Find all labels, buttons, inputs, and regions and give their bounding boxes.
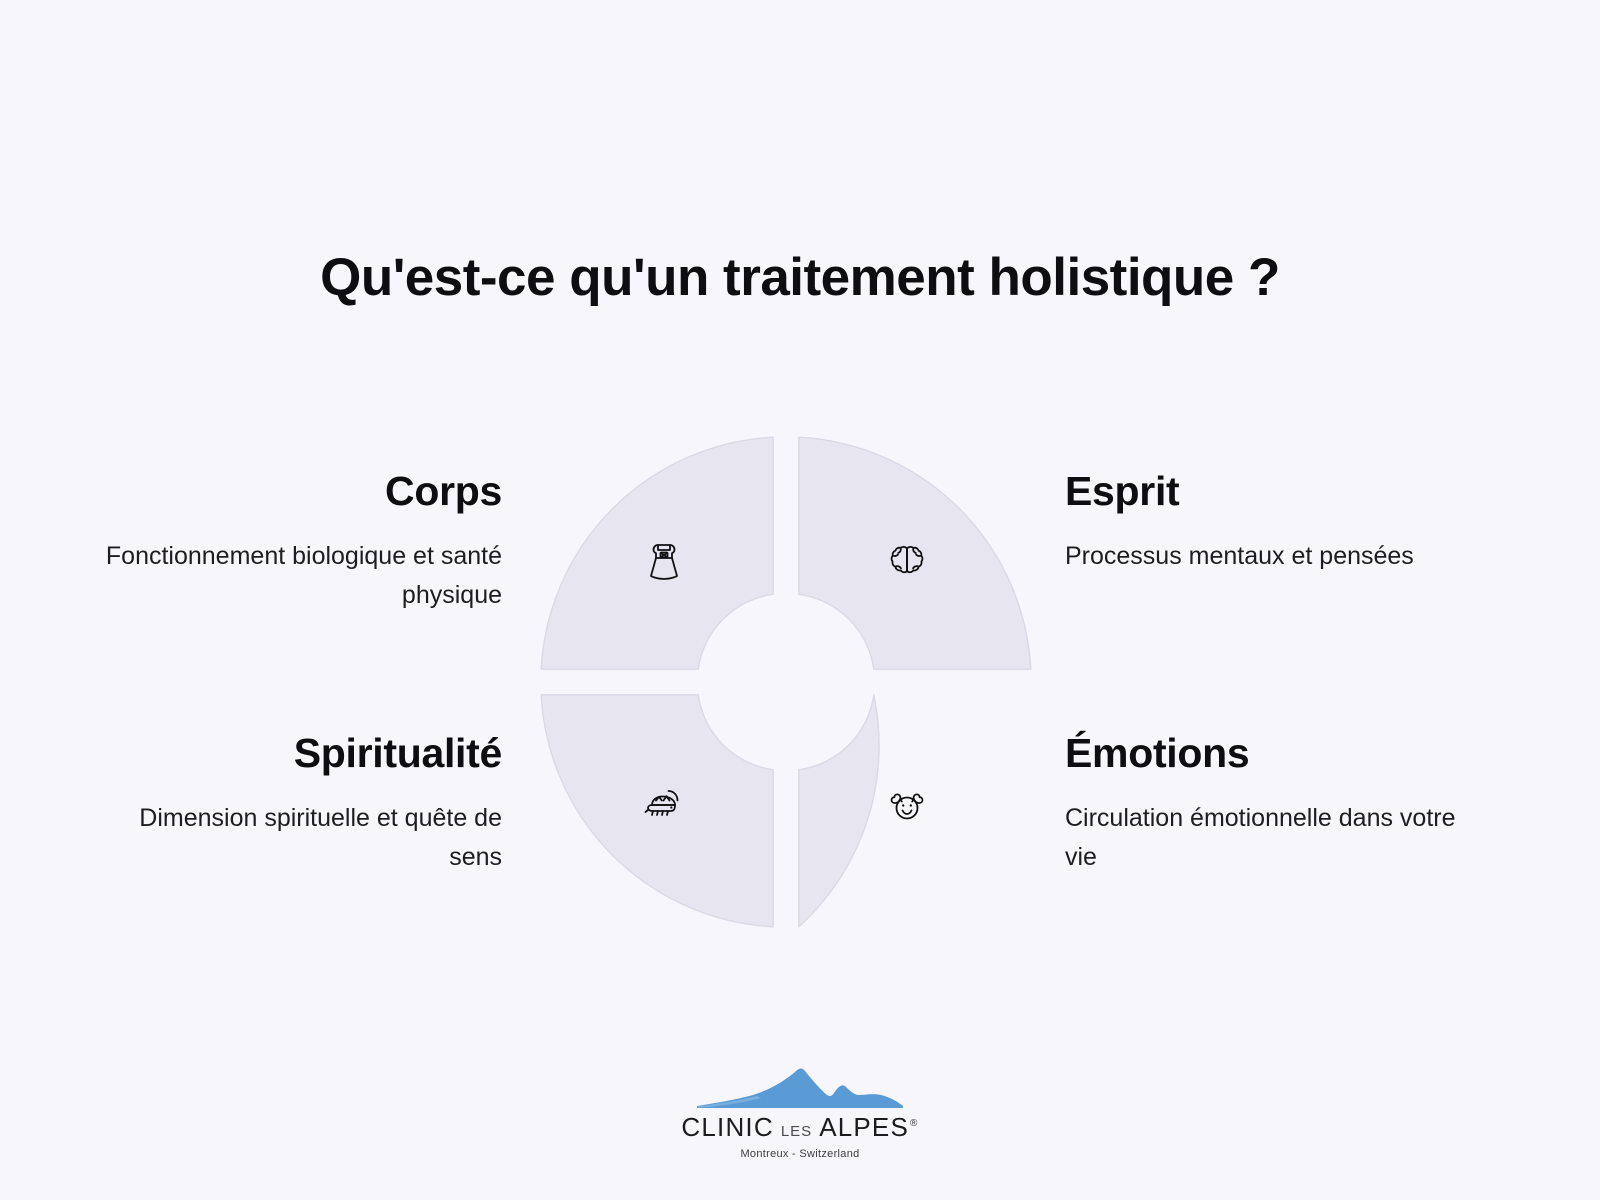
smiley-hearts-icon bbox=[884, 780, 930, 826]
footer-logo: CLINIC LES ALPES ® Montreux - Switzerlan… bbox=[0, 1062, 1600, 1160]
quadrant-emotions-description: Circulation émotionnelle dans votre vie bbox=[1065, 799, 1485, 877]
quadrant-spiritualite: Spiritualité Dimension spirituelle et qu… bbox=[82, 730, 502, 877]
logo-tagline: Montreux - Switzerland bbox=[740, 1148, 859, 1160]
quadrant-spiritualite-title: Spiritualité bbox=[82, 730, 502, 777]
quadrant-corps-title: Corps bbox=[82, 468, 502, 515]
donut-segment-emotions[interactable] bbox=[799, 695, 879, 927]
brain-icon bbox=[884, 539, 930, 585]
logo-registered-mark: ® bbox=[910, 1118, 919, 1129]
quadrant-emotions: Émotions Circulation émotionnelle dans v… bbox=[1065, 730, 1485, 877]
logo-word-alpes: ALPES bbox=[819, 1112, 909, 1143]
dress-icon bbox=[641, 539, 687, 585]
quadrant-esprit-title: Esprit bbox=[1065, 468, 1485, 515]
page-title: Qu'est-ce qu'un traitement holistique ? bbox=[0, 248, 1600, 309]
quadrant-esprit: Esprit Processus mentaux et pensées bbox=[1065, 468, 1485, 576]
holistic-donut-diagram bbox=[541, 437, 1031, 927]
quadrant-corps-description: Fonctionnement biologique et santé physi… bbox=[82, 537, 502, 615]
quadrant-esprit-description: Processus mentaux et pensées bbox=[1065, 537, 1485, 576]
donut-chart bbox=[541, 437, 1031, 927]
quadrant-emotions-title: Émotions bbox=[1065, 730, 1485, 777]
infographic-page: Qu'est-ce qu'un traitement holistique ? bbox=[0, 0, 1600, 1200]
mountain-logo-icon bbox=[695, 1062, 905, 1110]
mountain-creature-icon bbox=[641, 780, 687, 826]
logo-word-les: LES bbox=[781, 1123, 812, 1140]
quadrant-corps: Corps Fonctionnement biologique et santé… bbox=[82, 468, 502, 615]
logo-word-clinic: CLINIC bbox=[681, 1112, 773, 1143]
logo-wordmark: CLINIC LES ALPES ® bbox=[681, 1112, 918, 1143]
quadrant-spiritualite-description: Dimension spirituelle et quête de sens bbox=[82, 799, 502, 877]
